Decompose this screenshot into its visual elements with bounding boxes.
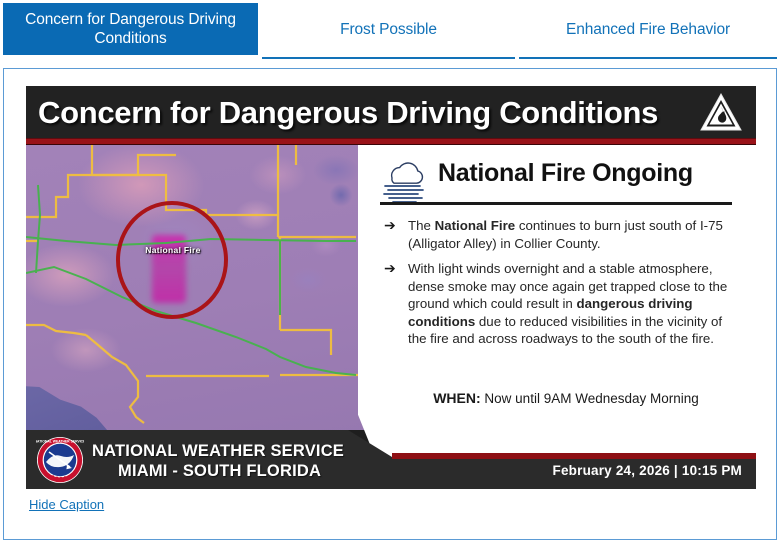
nws-office-line1: NATIONAL WEATHER SERVICE: [92, 441, 344, 461]
weather-graphic: Concern for Dangerous Driving Conditions: [26, 86, 756, 489]
panel-heading: National Fire Ongoing: [438, 159, 693, 188]
panel-divider: [380, 202, 732, 205]
tab-underline-frost: [262, 57, 515, 59]
graphic-header-band: Concern for Dangerous Driving Conditions: [26, 86, 756, 138]
fog-smoke-cloud-icon: [380, 158, 428, 204]
hide-caption-link[interactable]: Hide Caption: [29, 497, 104, 512]
graphic-timestamp: February 24, 2026 | 10:15 PM: [553, 463, 742, 478]
bullet-arrow-icon: ➔: [384, 260, 408, 348]
nws-office-name: NATIONAL WEATHER SERVICE MIAMI - SOUTH F…: [92, 441, 344, 481]
bullet-2-text: With light winds overnight and a stable …: [408, 260, 732, 348]
tab-bar: Concern for Dangerous Driving Conditions…: [0, 0, 780, 68]
graphic-title: Concern for Dangerous Driving Conditions: [38, 91, 678, 135]
panel-bullet-2: ➔ With light winds overnight and a stabl…: [384, 260, 732, 348]
caption-panel-frame: Concern for Dangerous Driving Conditions: [3, 68, 777, 540]
svg-text:NATIONAL WEATHER SERVICE: NATIONAL WEATHER SERVICE: [36, 439, 84, 443]
fire-area-annotation-ellipse: [116, 201, 228, 319]
graphic-red-divider: [26, 138, 756, 145]
info-panel: National Fire Ongoing ➔ The National Fir…: [358, 145, 756, 474]
when-line: WHEN: Now until 9AM Wednesday Morning: [396, 390, 736, 406]
nws-seal-icon: NATIONAL WEATHER SERVICE: [36, 436, 84, 484]
tab-frost-possible[interactable]: Frost Possible: [262, 3, 515, 55]
bullet-1-text: The National Fire continues to burn just…: [408, 217, 732, 252]
graphic-footer-red-stripe: [392, 453, 756, 459]
fire-area-label: National Fire: [123, 245, 223, 255]
when-value: Now until 9AM Wednesday Morning: [484, 391, 698, 406]
tab-underline-enhanced: [519, 57, 777, 59]
tab-concern-for-dangerous-driving-conditions[interactable]: Concern for Dangerous Driving Conditions: [3, 3, 258, 55]
panel-bullet-1: ➔ The National Fire continues to burn ju…: [384, 217, 732, 252]
tab-enhanced-fire-behavior[interactable]: Enhanced Fire Behavior: [519, 3, 777, 55]
when-label: WHEN:: [433, 390, 480, 406]
fire-warning-triangle-icon: [700, 92, 742, 132]
bullet-arrow-icon: ➔: [384, 217, 408, 252]
nws-office-line2: MIAMI - SOUTH FLORIDA: [92, 461, 344, 481]
